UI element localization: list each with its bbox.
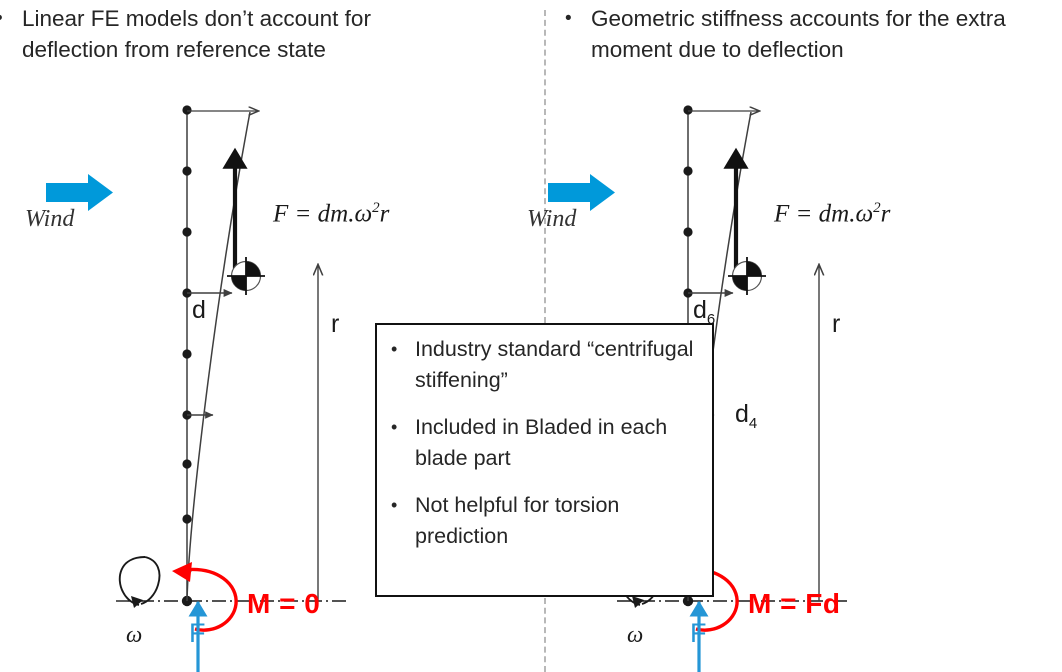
deflection-subscript: 4: [749, 415, 757, 432]
centrifugal-formula-right: F = dm.ω2r: [774, 200, 890, 228]
centre-of-mass-symbol: [728, 257, 766, 295]
blade-node: [683, 166, 692, 175]
callout-text: Not helpful for torsion prediction: [415, 490, 712, 552]
blade-node: [182, 166, 191, 175]
formula-main: F = dm.ω: [774, 200, 873, 227]
callout-marker: •: [377, 490, 415, 521]
force-label-left: F: [189, 618, 206, 649]
slide-canvas: • Linear FE models don’t account for def…: [0, 0, 1062, 672]
callout-marker: •: [377, 334, 415, 365]
deflection-label-d: d: [192, 296, 206, 325]
omega-label-left: ω: [126, 622, 142, 648]
blade-node: [182, 514, 191, 523]
deflection-letter: d: [693, 296, 707, 324]
omega-label-right: ω: [627, 622, 643, 648]
wind-label-right: Wind: [527, 206, 576, 233]
wind-label-left: Wind: [25, 206, 74, 233]
deflected-blade-curve: [187, 112, 250, 601]
radius-label-left: r: [331, 310, 339, 339]
centrifugal-formula-left: F = dm.ω2r: [273, 200, 389, 228]
formula-tail: r: [881, 200, 891, 227]
callout-text: Industry standard “centrifugal stiffenin…: [415, 334, 712, 396]
formula-tail: r: [380, 200, 390, 227]
blade-node: [683, 105, 692, 114]
deflection-label-d4: d4: [735, 400, 757, 432]
list-item: • Not helpful for torsion prediction: [377, 490, 712, 552]
blade-node: [182, 105, 191, 114]
formula-exponent: 2: [873, 200, 881, 216]
deflection-letter: d: [735, 400, 749, 428]
formula-main: F = dm.ω: [273, 200, 372, 227]
blade-node: [182, 227, 191, 236]
moment-label-right: M = Fd: [748, 588, 840, 620]
radius-label-right: r: [832, 310, 840, 339]
callout-text: Included in Bladed in each blade part: [415, 412, 712, 474]
callout-list: • Industry standard “centrifugal stiffen…: [377, 325, 712, 552]
blade-node: [683, 227, 692, 236]
formula-exponent: 2: [372, 200, 380, 216]
callout-marker: •: [377, 412, 415, 443]
blade-node: [182, 349, 191, 358]
centre-of-mass-symbol: [227, 257, 265, 295]
force-label-right: F: [690, 618, 707, 649]
centrifugal-stiffening-callout: • Industry standard “centrifugal stiffen…: [375, 323, 714, 597]
list-item: • Industry standard “centrifugal stiffen…: [377, 334, 712, 396]
blade-node: [182, 459, 191, 468]
moment-label-left: M = 0: [247, 588, 320, 620]
list-item: • Included in Bladed in each blade part: [377, 412, 712, 474]
